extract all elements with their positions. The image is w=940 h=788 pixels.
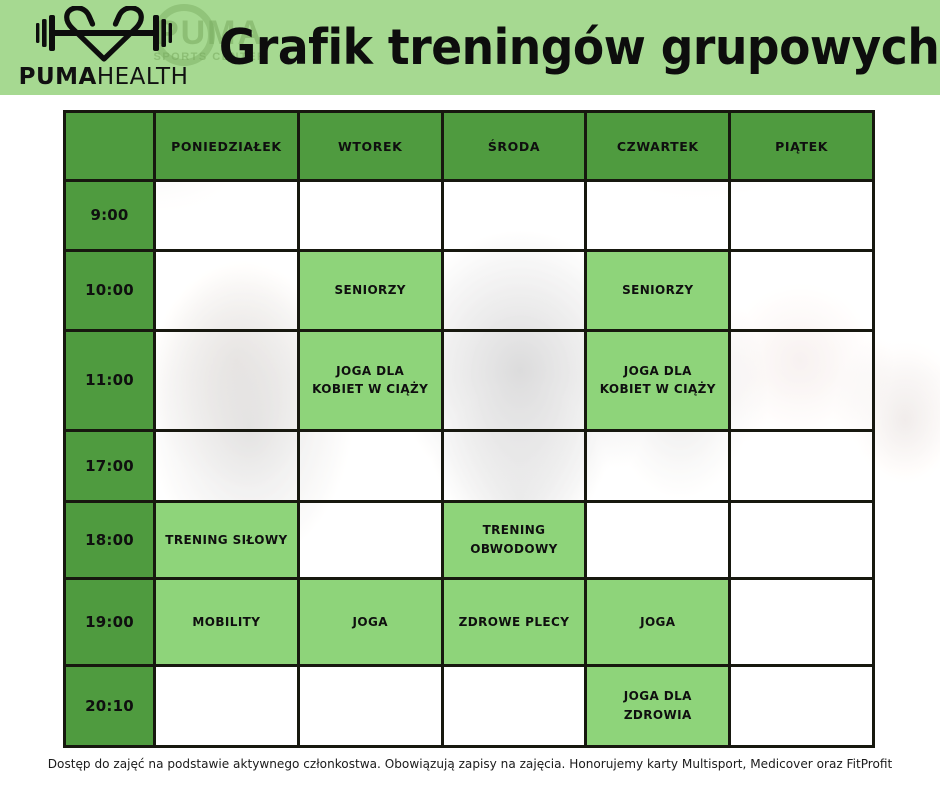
time-label-10-00: 10:00	[65, 250, 155, 330]
empty-slot	[155, 665, 299, 746]
class-slot[interactable]: ZDROWE PLECY	[442, 578, 586, 665]
time-label-19-00: 19:00	[65, 578, 155, 665]
class-slot[interactable]: JOGA	[298, 578, 442, 665]
time-label-20-10: 20:10	[65, 665, 155, 746]
brand-wordmark: PUMAHEALTH	[19, 66, 189, 89]
empty-slot	[730, 665, 874, 746]
empty-slot	[442, 330, 586, 430]
empty-slot	[298, 181, 442, 251]
empty-slot	[155, 330, 299, 430]
page-header: PUMA SPORTS CENTER	[0, 0, 940, 95]
table-row: 9:00	[65, 181, 874, 251]
page-title: Grafik treningów grupowych	[219, 19, 940, 76]
empty-slot	[155, 181, 299, 251]
time-label-11-00: 11:00	[65, 330, 155, 430]
schedule-table: PONIEDZIAŁEK WTOREK ŚRODA CZWARTEK PIĄTE…	[63, 110, 875, 748]
class-slot[interactable]: SENIORZY	[298, 250, 442, 330]
empty-slot	[442, 250, 586, 330]
column-header-tuesday: WTOREK	[298, 112, 442, 181]
empty-slot	[298, 665, 442, 746]
empty-slot	[730, 250, 874, 330]
brand-name-light: HEALTH	[97, 64, 189, 90]
brand-logo: PUMAHEALTH	[16, 6, 191, 89]
empty-slot	[730, 578, 874, 665]
table-corner-cell	[65, 112, 155, 181]
table-row: 19:00MOBILITYJOGAZDROWE PLECYJOGA	[65, 578, 874, 665]
empty-slot	[586, 501, 730, 578]
class-slot[interactable]: TRENINGOBWODOWY	[442, 501, 586, 578]
time-label-18-00: 18:00	[65, 501, 155, 578]
table-row: 17:00	[65, 431, 874, 502]
footer-note: Dostęp do zajęć na podstawie aktywnego c…	[19, 756, 921, 771]
class-slot[interactable]: JOGA DLAKOBIET W CIĄŻY	[586, 330, 730, 430]
column-header-wednesday: ŚRODA	[442, 112, 586, 181]
empty-slot	[442, 431, 586, 502]
table-row: 10:00SENIORZYSENIORZY	[65, 250, 874, 330]
empty-slot	[298, 431, 442, 502]
column-header-thursday: CZWARTEK	[586, 112, 730, 181]
table-row: 18:00TRENING SIŁOWYTRENINGOBWODOWY	[65, 501, 874, 578]
class-slot[interactable]: SENIORZY	[586, 250, 730, 330]
empty-slot	[730, 181, 874, 251]
empty-slot	[442, 181, 586, 251]
empty-slot	[155, 431, 299, 502]
class-slot[interactable]: JOGA DLAKOBIET W CIĄŻY	[298, 330, 442, 430]
empty-slot	[730, 501, 874, 578]
schedule-body: 9:0010:00SENIORZYSENIORZY11:00JOGA DLAKO…	[65, 181, 874, 747]
empty-slot	[730, 330, 874, 430]
class-slot[interactable]: MOBILITY	[155, 578, 299, 665]
brand-name-bold: PUMA	[19, 64, 97, 90]
empty-slot	[442, 665, 586, 746]
empty-slot	[730, 431, 874, 502]
schedule-table-container: PONIEDZIAŁEK WTOREK ŚRODA CZWARTEK PIĄTE…	[63, 110, 875, 748]
empty-slot	[298, 501, 442, 578]
time-label-17-00: 17:00	[65, 431, 155, 502]
column-header-friday: PIĄTEK	[730, 112, 874, 181]
time-label-9-00: 9:00	[65, 181, 155, 251]
empty-slot	[586, 431, 730, 502]
class-slot[interactable]: JOGA DLAZDROWIA	[586, 665, 730, 746]
table-row: 11:00JOGA DLAKOBIET W CIĄŻYJOGA DLAKOBIE…	[65, 330, 874, 430]
schedule-header-row: PONIEDZIAŁEK WTOREK ŚRODA CZWARTEK PIĄTE…	[65, 112, 874, 181]
column-header-monday: PONIEDZIAŁEK	[155, 112, 299, 181]
table-row: 20:10JOGA DLAZDROWIA	[65, 665, 874, 746]
class-slot[interactable]: JOGA	[586, 578, 730, 665]
class-slot[interactable]: TRENING SIŁOWY	[155, 501, 299, 578]
empty-slot	[586, 181, 730, 251]
heart-barbell-icon	[34, 6, 174, 64]
empty-slot	[155, 250, 299, 330]
